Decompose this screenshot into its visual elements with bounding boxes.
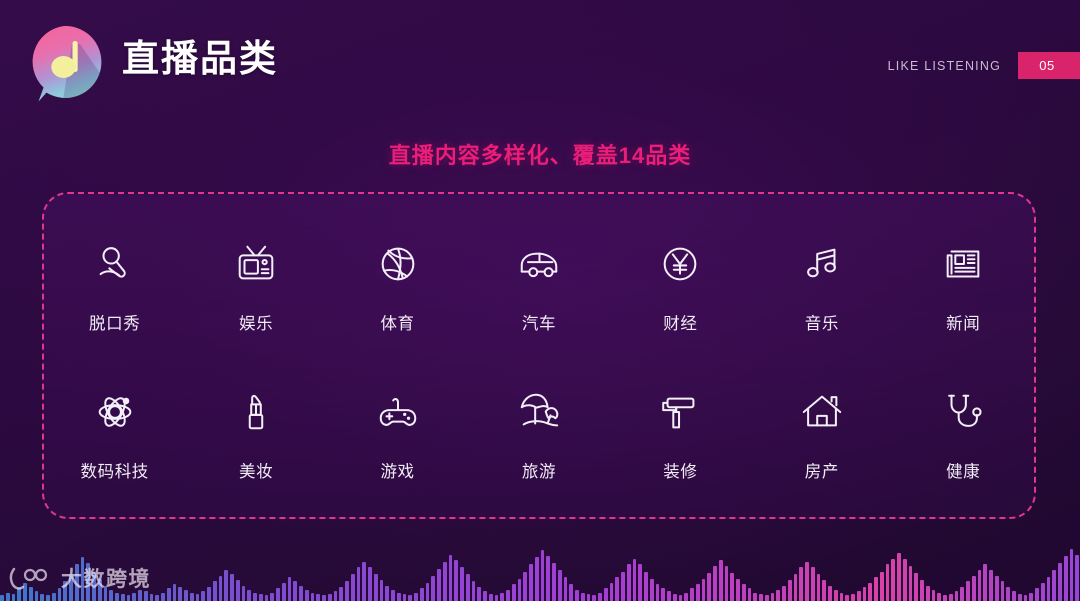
equalizer-bar [989, 570, 993, 601]
category-label: 财经 [663, 310, 697, 334]
atom-icon [92, 383, 138, 441]
equalizer-bar [696, 584, 700, 601]
category-item-finance[interactable]: 财经 [610, 235, 751, 334]
equalizer-bar [500, 593, 504, 601]
equalizer-bar [495, 595, 499, 601]
basketball-icon [375, 235, 421, 293]
equalizer-bar [299, 586, 303, 601]
equalizer-bar [638, 564, 642, 601]
equalizer-bar [380, 580, 384, 601]
lipstick-icon [233, 383, 279, 441]
equalizer-bar [178, 587, 182, 601]
equalizer-bar [1070, 549, 1074, 601]
equalizer-bar [817, 574, 821, 601]
equalizer-bar [270, 593, 274, 601]
category-item-games[interactable]: 游戏 [327, 383, 468, 482]
equalizer-bar [316, 594, 320, 601]
equalizer-bar [1012, 591, 1016, 601]
equalizer-bar [857, 591, 861, 601]
equalizer-bar [725, 566, 729, 601]
equalizer-bar [477, 587, 481, 601]
equalizer-bar [765, 595, 769, 601]
category-row: 脱口秀 娱乐 [44, 235, 1034, 334]
equalizer-bar [115, 593, 119, 601]
equalizer-bar [943, 595, 947, 601]
equalizer-bar [1006, 587, 1010, 601]
equalizer-bar [891, 559, 895, 601]
equalizer-bar [627, 564, 631, 601]
equalizer-bar [414, 593, 418, 601]
gamepad-icon [375, 383, 421, 441]
equalizer-bar [748, 588, 752, 601]
equalizer-bar [265, 595, 269, 601]
category-label: 游戏 [380, 458, 414, 482]
equalizer-bar [236, 580, 240, 601]
header-meta: LIKE LISTENING 05 [888, 52, 1080, 79]
equalizer-bar [40, 594, 44, 601]
stethoscope-icon [940, 383, 986, 441]
category-row: 数码科技 美妆 [44, 383, 1034, 482]
equalizer-bar [173, 584, 177, 601]
equalizer-bar [46, 595, 50, 601]
equalizer-bar [259, 594, 263, 601]
equalizer-bar [1058, 563, 1062, 601]
yen-circle-icon [657, 235, 703, 293]
paint-roller-icon [657, 383, 703, 441]
equalizer-bar [489, 594, 493, 601]
category-item-talkshow[interactable]: 脱口秀 [44, 235, 185, 334]
equalizer-bar [621, 572, 625, 601]
category-label: 汽车 [522, 310, 556, 334]
equalizer-bar [196, 594, 200, 601]
equalizer-bar [403, 594, 407, 601]
equalizer-bar [1029, 593, 1033, 601]
equalizer-bar [305, 590, 309, 601]
equalizer-bar [569, 584, 573, 601]
equalizer-bar [385, 586, 389, 601]
equalizer-bar [868, 583, 872, 601]
equalizer-bar [201, 591, 205, 601]
equalizer-bar [949, 594, 953, 601]
equalizer-bar [840, 593, 844, 601]
equalizer-bar [184, 590, 188, 601]
equalizer-bar [483, 591, 487, 601]
category-item-auto[interactable]: 汽车 [468, 235, 609, 334]
equalizer-bar [845, 595, 849, 601]
music-note-bubble-logo-icon [22, 22, 106, 106]
equalizer-bar [207, 587, 211, 601]
equalizer-bar [983, 564, 987, 601]
equalizer-bar [322, 595, 326, 601]
equalizer-bar [673, 594, 677, 601]
equalizer-bar [374, 574, 378, 601]
equalizer-bar [52, 593, 56, 601]
equalizer-bar [6, 593, 10, 601]
equalizer-bar [242, 586, 246, 601]
equalizer-bar [523, 572, 527, 601]
equalizer-bar [276, 588, 280, 601]
equalizer-bar [903, 559, 907, 601]
equalizer-bar [1064, 556, 1068, 601]
equalizer-bar [805, 562, 809, 601]
equalizer-bar [587, 594, 591, 601]
car-icon [516, 235, 562, 293]
equalizer-bar [776, 590, 780, 601]
equalizer-bar [610, 583, 614, 601]
equalizer-bar [558, 570, 562, 601]
equalizer-bar [132, 593, 136, 601]
equalizer-bar [420, 588, 424, 601]
equalizer-bar [966, 581, 970, 601]
equalizer-bar [995, 576, 999, 601]
category-label: 装修 [663, 458, 697, 482]
equalizer-bar [978, 570, 982, 601]
equalizer-bar [598, 593, 602, 601]
category-item-music[interactable]: 音乐 [751, 235, 892, 334]
equalizer-bar [311, 593, 315, 601]
equalizer-bar [667, 591, 671, 601]
equalizer-bar [351, 574, 355, 601]
equalizer-bar [224, 570, 228, 601]
equalizer-bar [713, 566, 717, 601]
category-label: 旅游 [522, 458, 556, 482]
equalizer-bar [960, 587, 964, 601]
equalizer-bar [190, 593, 194, 601]
equalizer-bar [771, 593, 775, 601]
equalizer-bar [897, 553, 901, 601]
section-title: 直播内容多样化、覆盖14品类 [0, 138, 1080, 170]
equalizer-bar [449, 555, 453, 601]
equalizer-bar [518, 579, 522, 601]
category-item-realestate[interactable]: 房产 [751, 383, 892, 482]
equalizer-bar [955, 591, 959, 601]
equalizer-bar [788, 580, 792, 601]
equalizer-bar [811, 567, 815, 601]
equalizer-bar [219, 576, 223, 601]
equalizer-bar [288, 577, 292, 601]
equalizer-bar [1024, 595, 1028, 601]
header-kicker: LIKE LISTENING [888, 59, 1018, 73]
slide-header: 直播品类 LIKE LISTENING 05 [0, 0, 1080, 128]
equalizer-bar [345, 581, 349, 601]
equalizer-bar [851, 594, 855, 601]
equalizer-bar [460, 567, 464, 601]
equalizer-bar [339, 587, 343, 601]
equalizer-bar [679, 595, 683, 601]
music-notes-icon [799, 235, 845, 293]
equalizer-bar [230, 574, 234, 601]
equalizer-bar [506, 590, 510, 601]
equalizer-bar [161, 593, 165, 601]
equalizer-bar [437, 569, 441, 601]
equalizer-bar [886, 564, 890, 601]
equalizer-bar [1041, 583, 1045, 601]
category-item-digital-tech[interactable]: 数码科技 [44, 383, 185, 482]
equalizer-bar [167, 588, 171, 601]
equalizer-bar [357, 567, 361, 601]
equalizer-bar [684, 593, 688, 601]
equalizer-bar [12, 594, 16, 601]
equalizer-bar [592, 595, 596, 601]
equalizer-bar [920, 580, 924, 601]
equalizer-bar [529, 564, 533, 601]
equalizer-bar [604, 588, 608, 601]
house-icon [799, 383, 845, 441]
equalizer-bar [362, 562, 366, 601]
audio-equalizer-bars-icon [0, 539, 1080, 601]
equalizer-bar [564, 577, 568, 601]
equalizer-bar [736, 579, 740, 601]
equalizer-bar [707, 573, 711, 601]
equalizer-bar [150, 594, 154, 601]
equalizer-bar [541, 550, 545, 601]
equalizer-bar [1001, 581, 1005, 601]
slide: 直播品类 LIKE LISTENING 05 直播内容多样化、覆盖14品类 [0, 0, 1080, 601]
category-panel: 脱口秀 娱乐 [42, 192, 1036, 519]
watermark-text: 大数跨境 [61, 569, 151, 590]
brand-mark-icon [8, 566, 54, 593]
equalizer-bar [213, 581, 217, 601]
equalizer-bar [615, 577, 619, 601]
equalizer-bar [155, 595, 159, 601]
equalizer-bar [926, 586, 930, 601]
equalizer-bar [247, 590, 251, 601]
equalizer-bar [702, 579, 706, 601]
category-label: 美妆 [239, 458, 273, 482]
equalizer-bar [661, 588, 665, 601]
equalizer-bar [408, 595, 412, 601]
category-item-sports[interactable]: 体育 [327, 235, 468, 334]
category-label: 数码科技 [81, 458, 149, 482]
equalizer-bar [512, 584, 516, 601]
newspaper-icon [940, 235, 986, 293]
equalizer-bar [972, 576, 976, 601]
watermark: 大数跨境 [8, 566, 151, 593]
equalizer-bar [546, 556, 550, 601]
equalizer-bar [397, 593, 401, 601]
equalizer-bar [334, 591, 338, 601]
category-label: 新闻 [946, 310, 980, 334]
equalizer-bar [121, 594, 125, 601]
television-icon [233, 235, 279, 293]
equalizer-bar [782, 586, 786, 601]
equalizer-bar [535, 557, 539, 601]
equalizer-bar [391, 590, 395, 601]
equalizer-bar [742, 584, 746, 601]
category-label: 脱口秀 [89, 310, 140, 334]
category-item-health[interactable]: 健康 [893, 383, 1034, 482]
microphone-icon [92, 235, 138, 293]
equalizer-bar [909, 566, 913, 601]
category-grid: 脱口秀 娱乐 [44, 194, 1034, 517]
equalizer-bar [650, 579, 654, 601]
category-label: 房产 [805, 458, 839, 482]
beach-umbrella-icon [516, 383, 562, 441]
equalizer-bar [127, 595, 131, 601]
equalizer-bar [834, 590, 838, 601]
equalizer-bar [753, 593, 757, 601]
equalizer-bar [822, 580, 826, 601]
equalizer-bar [863, 587, 867, 601]
equalizer-bar [253, 593, 257, 601]
category-item-beauty[interactable]: 美妆 [185, 383, 326, 482]
equalizer-bar [937, 593, 941, 601]
category-item-entertainment[interactable]: 娱乐 [185, 235, 326, 334]
equalizer-bar [581, 593, 585, 601]
equalizer-bar [656, 584, 660, 601]
equalizer-bar [1035, 588, 1039, 601]
equalizer-bar [426, 583, 430, 601]
equalizer-bar [874, 577, 878, 601]
equalizer-bar [759, 594, 763, 601]
equalizer-bar [719, 560, 723, 601]
category-label: 体育 [380, 310, 414, 334]
equalizer-bar [552, 563, 556, 601]
equalizer-bar [472, 581, 476, 601]
category-item-travel[interactable]: 旅游 [468, 383, 609, 482]
page-title: 直播品类 [122, 40, 278, 77]
category-label: 健康 [946, 458, 980, 482]
equalizer-bar [1047, 577, 1051, 601]
equalizer-bar [431, 576, 435, 601]
equalizer-bar [0, 595, 4, 601]
equalizer-bar [794, 574, 798, 601]
equalizer-bar [328, 594, 332, 601]
equalizer-bar [633, 559, 637, 601]
category-item-news[interactable]: 新闻 [893, 235, 1034, 334]
equalizer-bar [575, 590, 579, 601]
equalizer-bar [914, 573, 918, 601]
equalizer-bar [282, 583, 286, 601]
equalizer-bar [1018, 594, 1022, 601]
equalizer-bar [828, 586, 832, 601]
category-item-renovation[interactable]: 装修 [610, 383, 751, 482]
equalizer-bar [443, 562, 447, 601]
equalizer-bar [1052, 570, 1056, 601]
equalizer-bar [644, 572, 648, 601]
equalizer-bar [1075, 555, 1079, 601]
equalizer-bar [454, 560, 458, 601]
equalizer-bar [799, 567, 803, 601]
equalizer-bar [730, 573, 734, 601]
equalizer-bar [293, 581, 297, 601]
category-label: 音乐 [805, 310, 839, 334]
equalizer-bar [690, 588, 694, 601]
page-number-badge: 05 [1018, 52, 1080, 79]
equalizer-bar [368, 567, 372, 601]
equalizer-bar [466, 574, 470, 601]
equalizer-bar [932, 590, 936, 601]
category-label: 娱乐 [239, 310, 273, 334]
equalizer-bar [880, 572, 884, 601]
